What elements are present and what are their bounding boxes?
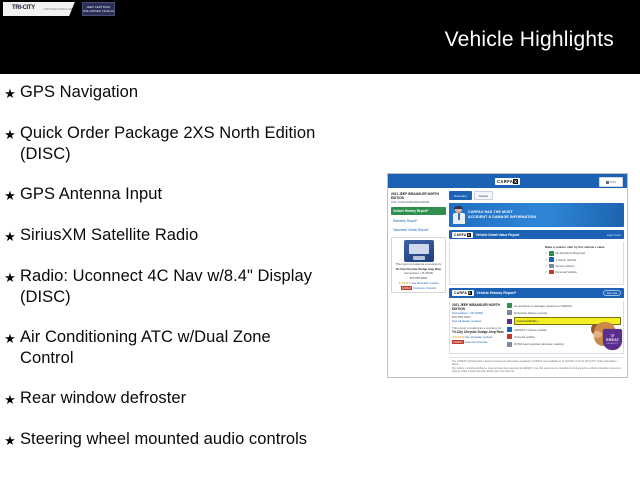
print-button[interactable]: Print	[599, 177, 623, 187]
printer-icon	[606, 181, 609, 184]
star-rating-glyphs: ★★★★★	[398, 281, 411, 285]
vhr-get-more-button[interactable]: Get more	[603, 290, 621, 296]
promo-line-2: ACCIDENT & DAMAGE INFORMATION	[468, 215, 536, 220]
vhr-rating-stars: ★★★★★ See all dealer reviews	[452, 335, 504, 339]
print-button-label: Print	[610, 180, 616, 184]
carfax-body: 2021 JEEP WRANGLER NORTH EDITION VIN: 1C…	[388, 188, 627, 376]
no-accidents-icon	[507, 303, 512, 308]
highlight-label: GPS Antenna Input	[20, 184, 320, 205]
highlight-label: GPS Navigation	[20, 82, 320, 103]
sidebar-item-odometer-check-report[interactable]: Odometer Check Report*	[391, 226, 446, 233]
vhr-dealer-link[interactable]: See all dealer reviews	[452, 319, 504, 323]
personal-vehicle-icon	[549, 270, 554, 275]
dealer-logo-wordmark: TRI-CITY	[12, 5, 35, 12]
vehicle-header: 2021 JEEP WRANGLER NORTH EDITION VIN: 1C…	[391, 191, 446, 205]
star-bullet-icon: ★	[0, 266, 20, 288]
highlight-label: SiriusXM Satellite Radio	[20, 225, 320, 246]
dealer-phone: 800-555-0000	[410, 277, 427, 281]
carfax-tabs: Summary Details	[449, 191, 624, 200]
vhr-reviews-link[interactable]: See all dealer reviews	[465, 336, 492, 340]
star-bullet-icon: ★	[0, 429, 20, 451]
carfax-logo-x: X	[467, 233, 471, 237]
list-item: No accidents or damage reported to CARFA…	[507, 303, 621, 308]
carfax-top-bar: CARFA X Print	[388, 174, 627, 188]
star-bullet-icon: ★	[0, 184, 20, 206]
list-item: ★ Radio: Uconnect 4C Nav w/8.4" Display …	[0, 266, 380, 308]
list-item: ★ Rear window defroster	[0, 388, 380, 410]
vhr-dealer-name: Tri-City Chrysler Dodge Jeep Ram	[452, 330, 504, 334]
check-icon: ✓	[545, 251, 548, 255]
carfax-report-screenshot[interactable]: CARFA X Print 2021 JEEP WRANGLER NORTH E…	[387, 173, 628, 378]
carfax-logo-x: X	[513, 179, 517, 184]
dealer-seal-icon	[404, 240, 434, 262]
one-owner-icon	[549, 257, 554, 262]
promo-text: CARFAX HAS THE MOST ACCIDENT & DAMAGE IN…	[468, 210, 536, 219]
checklist-label: 1 Owner Vehicle	[555, 258, 576, 262]
value-report-cta[interactable]: Learn more	[607, 233, 621, 237]
shield-icon: 🛡	[610, 334, 615, 338]
star-bullet-icon: ★	[0, 225, 20, 247]
highlight-label: Steering wheel mounted audio controls	[20, 429, 370, 450]
sidebar-item-warranty-report[interactable]: Warranty Report*	[391, 217, 446, 224]
value-checklist: Make a smarter offer by this vehicle's v…	[545, 245, 617, 281]
carfax-logo-text: CARFA	[497, 179, 513, 184]
header-band: TRI-CITY CHRYSLER DODGE JEEP RAM JEEP CE…	[0, 0, 640, 74]
vhr-vehicle-info: 2021 JEEP WRANGLER NORTH EDITION Somewhe…	[452, 303, 504, 351]
value-snapshot-panel: Make a smarter offer by this vehicle's v…	[449, 242, 624, 285]
carfax-promo-banner: CARFAX HAS THE MOST ACCIDENT & DAMAGE IN…	[449, 203, 624, 227]
list-item: ✓ No Accidents Reported	[545, 251, 617, 256]
fact-label: No accidents or damage reported to CARFA…	[514, 304, 572, 308]
fact-label: Personal vehicle	[514, 335, 535, 339]
list-item: ★ Air Conditioning ATC w/Dual Zone Contr…	[0, 327, 380, 369]
carfax-dog-mascot-icon: 🛡 GREAT RELIABILITY	[588, 322, 622, 352]
carfax-logo-small: CARFA X	[452, 290, 474, 296]
dealer-badge-row: CARFAX Customer Favorite	[401, 286, 437, 290]
carfax-left-rail: 2021 JEEP WRANGLER NORTH EDITION VIN: 1C…	[391, 191, 446, 373]
reliability-icon	[507, 319, 512, 324]
checklist-label: No Accidents Reported	[555, 251, 585, 255]
personal-vehicle-icon	[507, 334, 512, 339]
check-icon: ✓	[545, 258, 548, 262]
checklist-label: Service History	[555, 264, 574, 268]
carfax-logo-text: CARFA	[454, 233, 466, 237]
vehicle-vin: VIN: 1C4HJXDN4LW100000	[391, 200, 446, 204]
great-reliability-badge: 🛡 GREAT RELIABILITY	[603, 329, 622, 350]
badge-word: GREAT	[606, 338, 619, 342]
badge-subtext: RELIABILITY	[606, 343, 618, 346]
carfax-chip: CARFAX	[401, 286, 413, 290]
odometer-icon	[507, 342, 512, 347]
footnote-line-3: drive to make a better decision about yo…	[452, 370, 621, 373]
list-item: 16 Service history records	[507, 310, 621, 315]
list-item: ★ GPS Navigation	[0, 82, 380, 104]
check-icon: ✓	[545, 264, 548, 268]
vhr-customer-favorite-link[interactable]: Customer Favorite	[465, 341, 488, 345]
list-item: ★ Quick Order Package 2XS North Edition …	[0, 123, 380, 165]
vhr-badge-row: CARFAX Customer Favorite	[452, 340, 504, 344]
dealer-logo-tagline: CHRYSLER DODGE JEEP RAM	[43, 8, 81, 12]
value-report-title: Vehicle Detail Value Report	[476, 233, 520, 237]
star-bullet-icon: ★	[0, 82, 20, 104]
service-records-icon	[507, 310, 512, 315]
carfax-logo-text: CARFA	[454, 291, 467, 295]
vhr-body: 2021 JEEP WRANGLER NORTH EDITION Somewhe…	[449, 301, 624, 354]
star-bullet-icon: ★	[0, 327, 20, 349]
dealer-logo[interactable]: TRI-CITY CHRYSLER DODGE JEEP RAM JEEP CE…	[3, 2, 115, 16]
carfax-logo-x: X	[468, 291, 472, 295]
dealer-rating-stars: ★★★★★ See all dealer reviews	[398, 281, 438, 285]
vehicle-history-report-bar: CARFA X Vehicle History Report* Get more	[449, 288, 624, 298]
highlight-label: Rear window defroster	[20, 388, 320, 409]
highlight-label: Air Conditioning ATC w/Dual Zone Control	[20, 327, 320, 369]
one-owner-icon	[507, 327, 512, 332]
check-icon: ✓	[545, 270, 548, 274]
vehicle-highlights-list: ★ GPS Navigation ★ Quick Order Package 2…	[0, 82, 380, 470]
dealer-reviews-link[interactable]: See all dealer reviews	[411, 282, 438, 286]
carfax-right-column: Summary Details CARFAX HAS THE MOST ACCI…	[449, 191, 624, 373]
vehicle-title: 2021 JEEP WRANGLER NORTH EDITION	[391, 192, 446, 200]
list-item: ★ Steering wheel mounted audio controls	[0, 429, 380, 451]
highlight-label: Quick Order Package 2XS North Edition (D…	[20, 123, 320, 165]
list-item: ✓ Service History	[545, 264, 617, 269]
customer-favorite-link[interactable]: Customer Favorite	[413, 287, 436, 291]
star-rating-glyphs: ★★★★★	[452, 335, 465, 339]
fact-label: 16 Service history records	[514, 311, 547, 315]
service-history-icon	[549, 264, 554, 269]
dealer-logo-plate: TRI-CITY CHRYSLER DODGE JEEP RAM	[3, 2, 81, 16]
value-report-bar: CARFA X Vehicle Detail Value Report Lear…	[449, 230, 624, 239]
list-item: ✓ Personal Vehicle	[545, 270, 617, 275]
star-bullet-icon: ★	[0, 123, 20, 145]
list-item: ★ SiriusXM Satellite Radio	[0, 225, 380, 247]
carfax-logo-small: CARFA X	[452, 232, 473, 238]
list-item: ★ GPS Antenna Input	[0, 184, 380, 206]
highlight-label: Radio: Uconnect 4C Nav w/8.4" Display (D…	[20, 266, 320, 308]
carfax-logo: CARFA X	[495, 178, 520, 185]
carfax-chip: CARFAX	[452, 340, 464, 344]
fact-label: 15,560 Last reported odometer reading	[514, 342, 564, 346]
checklist-label: Personal Vehicle	[555, 270, 577, 274]
mechanic-avatar-icon	[452, 207, 465, 224]
page-title: Vehicle Highlights	[445, 27, 614, 53]
sidebar-item-vehicle-history-report[interactable]: Vehicle History Report*	[391, 207, 446, 215]
carfax-footnote: The CARFAX Vehicle History Report is bas…	[449, 357, 624, 373]
checklist-title: Make a smarter offer by this vehicle's v…	[545, 245, 617, 249]
fact-label: CARFAX 1-Owner vehicle	[514, 328, 547, 332]
badge-line-2: PRE-OWNED VEHICLE	[83, 9, 115, 13]
vhr-vehicle-title: 2021 JEEP WRANGLER NORTH EDITION	[452, 303, 504, 311]
star-bullet-icon: ★	[0, 388, 20, 410]
dealer-card: This report provided as a courtesy by Tr…	[391, 237, 446, 293]
list-item: ✓ 1 Owner Vehicle	[545, 257, 617, 262]
tab-summary[interactable]: Summary	[449, 191, 472, 200]
certified-preowned-badge: JEEP CERTIFIED PRE-OWNED VEHICLE	[82, 2, 115, 16]
no-accidents-icon	[549, 251, 554, 256]
tab-details[interactable]: Details	[474, 191, 493, 200]
vhr-title: Vehicle History Report*	[477, 291, 517, 295]
